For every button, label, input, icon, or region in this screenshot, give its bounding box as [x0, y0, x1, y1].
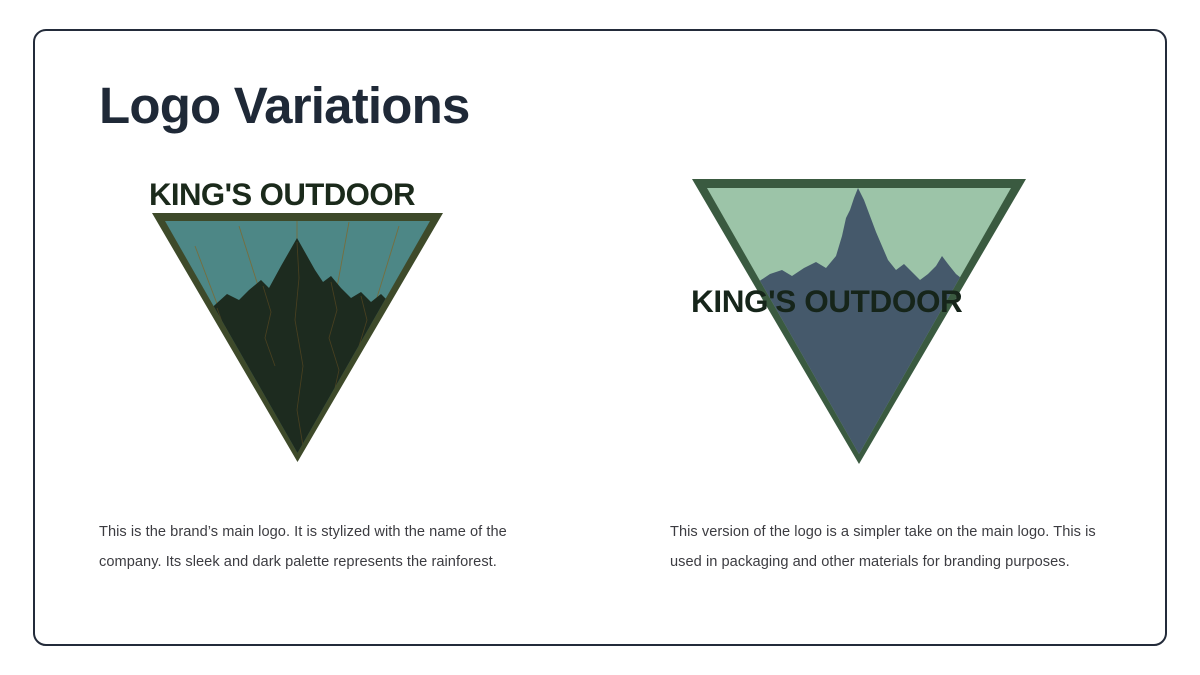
logo-column-simple: KING'S OUTDOOR — [670, 170, 1130, 475]
primary-logo-wordmark: KING'S OUTDOOR — [149, 176, 415, 213]
primary-logo-artwork: KING'S OUTDOOR — [99, 170, 559, 475]
simple-logo-artwork: KING'S OUTDOOR — [670, 170, 1130, 475]
slide-canvas: Logo Variations — [0, 0, 1200, 675]
simple-logo-triangle-icon — [670, 170, 1130, 475]
primary-logo-triangle-icon — [99, 170, 559, 475]
logo-column-primary: KING'S OUTDOOR — [99, 170, 559, 475]
simple-logo-wordmark: KING'S OUTDOOR — [691, 283, 962, 320]
primary-logo-caption: This is the brand’s main logo. It is sty… — [99, 518, 539, 577]
page-title: Logo Variations — [99, 77, 470, 134]
simple-logo-caption: This version of the logo is a simpler ta… — [670, 518, 1110, 577]
